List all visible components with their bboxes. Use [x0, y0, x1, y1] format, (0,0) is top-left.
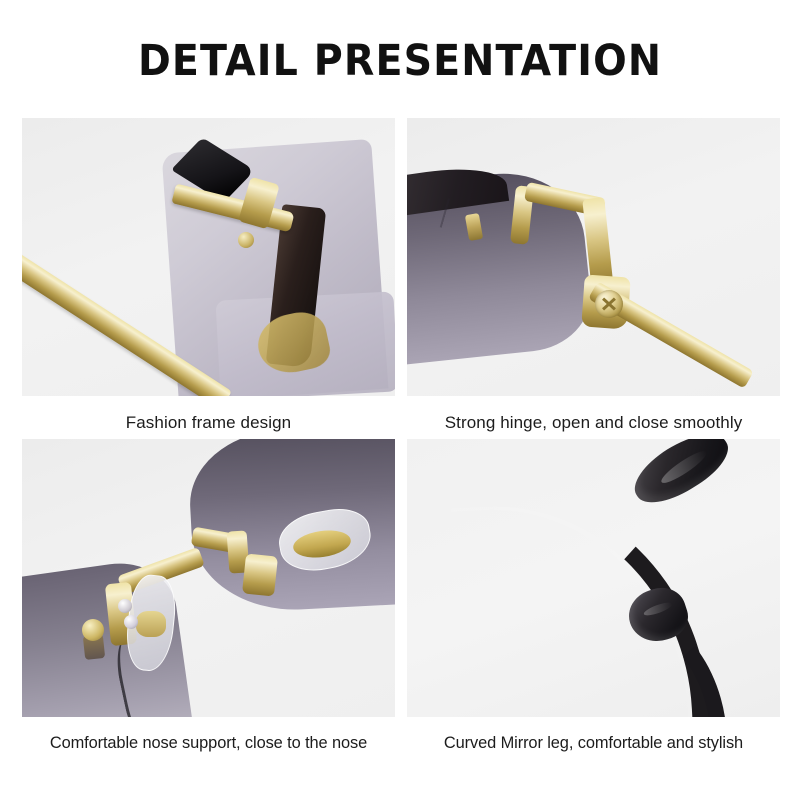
nose-pad-left-insert: [136, 611, 166, 637]
hinge-screw: [238, 232, 254, 248]
crystal-accent-one: [118, 599, 132, 613]
panel-caption-fashion-frame-design: Fashion frame design: [22, 396, 395, 431]
detail-panel-curved-mirror-leg[interactable]: Curved Mirror leg, comfortable and styli…: [407, 439, 780, 751]
panel-caption-comfortable-nose-support: Comfortable nose support, close to the n…: [22, 717, 395, 751]
detail-panel-fashion-frame-design[interactable]: Fashion frame design: [22, 118, 395, 431]
product-photo-strong-hinge[interactable]: [407, 118, 780, 396]
detail-presentation-page: DETAIL PRESENTATION Fashion frame design: [0, 0, 800, 800]
product-photo-curved-mirror-leg[interactable]: [407, 439, 780, 717]
detail-panel-comfortable-nose-support[interactable]: Comfortable nose support, close to the n…: [22, 439, 395, 751]
gold-clamp-right: [242, 553, 278, 596]
page-title: DETAIL PRESENTATION: [32, 36, 768, 86]
hinge-screw: [595, 290, 623, 318]
panel-caption-curved-mirror-leg: Curved Mirror leg, comfortable and styli…: [407, 717, 780, 751]
detail-panel-grid: Fashion frame design Strong hinge, open …: [22, 118, 780, 751]
lens-screw-head: [82, 619, 104, 641]
crystal-accent-two: [124, 615, 138, 629]
product-photo-fashion-frame-design[interactable]: [22, 118, 395, 396]
product-photo-comfortable-nose-support[interactable]: [22, 439, 395, 717]
panel-caption-strong-hinge: Strong hinge, open and close smoothly: [407, 396, 780, 431]
detail-panel-strong-hinge[interactable]: Strong hinge, open and close smoothly: [407, 118, 780, 431]
